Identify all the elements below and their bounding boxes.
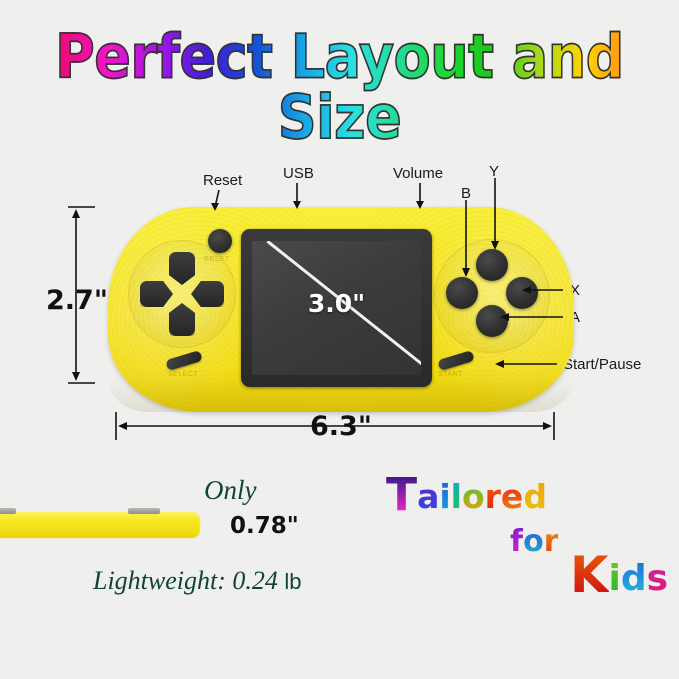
x-button[interactable]: [506, 277, 538, 309]
width-dimension-label: 6.3": [310, 411, 372, 442]
a-button[interactable]: [476, 305, 508, 337]
tagline-letter: o: [462, 477, 485, 516]
thickness-prefix-label: Only: [204, 475, 256, 506]
callout-label-y: Y: [489, 163, 499, 180]
screen-size-label: 3.0": [252, 289, 421, 318]
callout-label-start-pause: Start/Pause: [563, 356, 641, 373]
headline-container: Perfect Layout and Size: [0, 27, 679, 135]
handheld-console-front-view: 3.0" RESET SELECT START: [108, 207, 574, 412]
weight-text: Lightweight: 0.24: [93, 566, 278, 595]
thickness-value-label: 0.78": [230, 513, 299, 539]
tagline-letter: o: [523, 524, 544, 559]
start-engraving: START: [438, 371, 463, 378]
handheld-console-side-view: [0, 506, 200, 540]
leader-reset: [215, 190, 219, 207]
page-title: Perfect Layout and Size: [0, 27, 679, 148]
select-engraving: SELECT: [168, 371, 198, 378]
callout-label-usb: USB: [283, 165, 314, 182]
dpad[interactable]: [140, 252, 224, 336]
side-port-left: [0, 508, 16, 514]
tagline-letter: f: [510, 524, 523, 559]
callout-label-b: B: [461, 185, 471, 202]
side-port-right: [128, 508, 160, 514]
tagline-letter: r: [485, 477, 501, 516]
tagline-letter: e: [501, 477, 523, 516]
tagline-letter: d: [621, 558, 647, 599]
console-screen: 3.0": [252, 241, 421, 375]
reset-engraving: RESET: [204, 256, 230, 263]
height-dimension-label: 2.7": [46, 285, 108, 316]
tagline-block: Tailored for Kids: [386, 476, 676, 606]
product-infographic: Perfect Layout and Size Reset USB Volume…: [0, 0, 679, 679]
tagline-letter: i: [609, 558, 621, 599]
weight-label: Lightweight: 0.24 lb: [93, 566, 302, 596]
tagline-letter: r: [544, 524, 559, 559]
console-side-profile: [0, 512, 200, 538]
reset-button[interactable]: [208, 229, 232, 253]
tagline-word-kids: Kids: [570, 554, 668, 599]
action-button-cluster: [444, 249, 540, 343]
tagline-letter: T: [386, 476, 417, 515]
tagline-word-for: for: [510, 524, 558, 559]
screen-bezel: 3.0": [241, 229, 432, 387]
weight-unit: lb: [284, 569, 301, 594]
tagline-letter: s: [647, 558, 668, 599]
tagline-letter: a: [417, 477, 439, 516]
tagline-letter: K: [570, 554, 609, 596]
tagline-letter: l: [451, 477, 462, 516]
y-button[interactable]: [476, 249, 508, 281]
b-button[interactable]: [446, 277, 478, 309]
callout-label-volume: Volume: [393, 165, 443, 182]
callout-label-reset: Reset: [203, 172, 242, 189]
tagline-letter: d: [523, 477, 547, 516]
tagline-letter: i: [439, 477, 450, 516]
tagline-word-tailored: Tailored: [386, 476, 547, 516]
